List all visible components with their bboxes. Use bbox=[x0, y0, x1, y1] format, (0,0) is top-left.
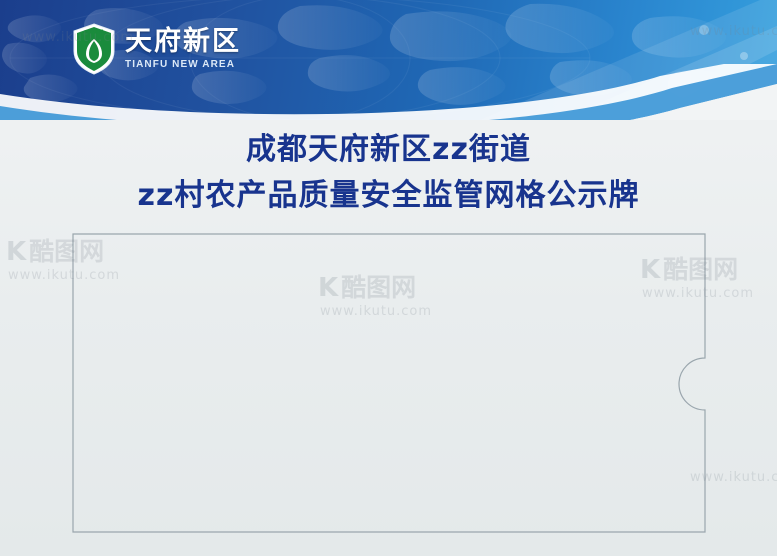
watermark-k: K bbox=[6, 237, 26, 267]
poster-canvas: 天府市场 天府新区 TIANFU NEW AREA 成都天府新区zz街道 zz村… bbox=[0, 0, 777, 556]
title-line-1: 成都天府新区zz街道 bbox=[0, 128, 777, 172]
title-line-2: zz村农产品质量安全监管网格公示牌 bbox=[0, 172, 777, 220]
logo-name-cn: 天府新区 bbox=[125, 28, 241, 55]
shield-badge-text: 天府市场 bbox=[84, 29, 104, 36]
banner-divider bbox=[0, 64, 777, 120]
content-body bbox=[84, 248, 684, 518]
page-title: 成都天府新区zz街道 zz村农产品质量安全监管网格公示牌 bbox=[0, 128, 777, 220]
header-banner: 天府市场 天府新区 TIANFU NEW AREA bbox=[0, 0, 777, 120]
